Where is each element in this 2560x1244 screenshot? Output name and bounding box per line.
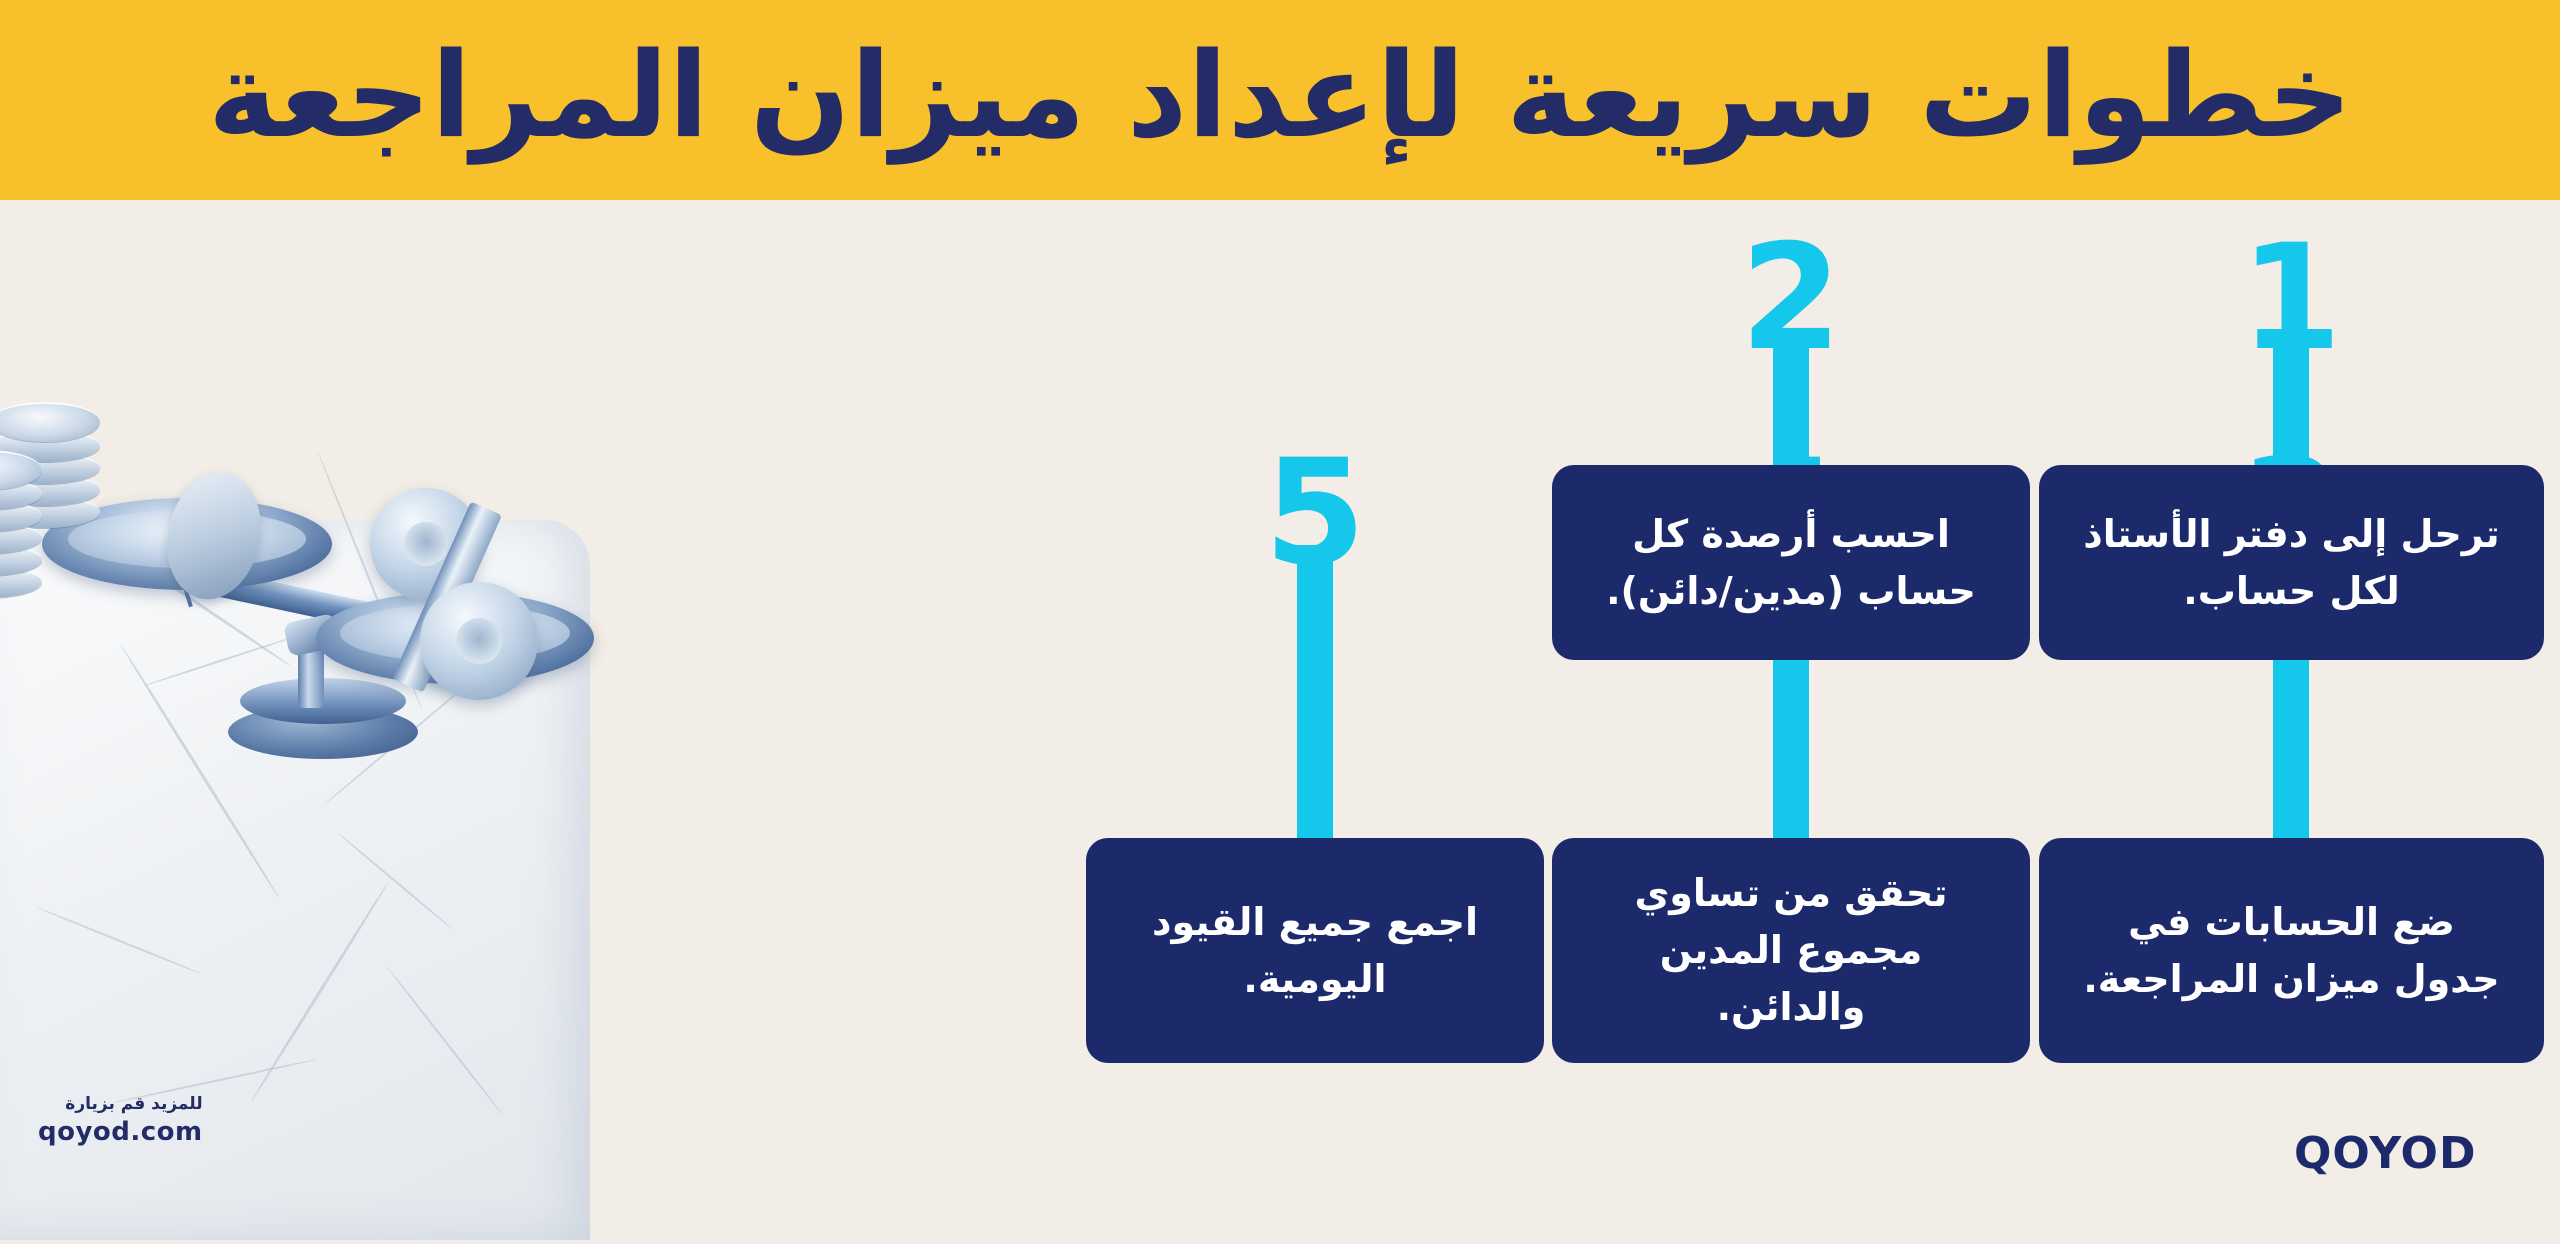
step-number-5: 5: [1255, 440, 1375, 586]
step-text-2: احسب أرصدة كل حساب (مدين/دائن).: [1586, 506, 1996, 620]
qoyod-logo: QOYOD: [2294, 1128, 2476, 1179]
steps-group: 1 2 3 4 5 ترحل إلى دفتر الأستاذ لكل حساب…: [0, 0, 2560, 1244]
step-text-3: ضع الحسابات في جدول ميزان المراجعة.: [2073, 894, 2510, 1008]
step-number-1: 1: [2231, 225, 2351, 371]
step-card-4[interactable]: تحقق من تساوي مجموع المدين والدائن.: [1552, 838, 2030, 1063]
step-card-1[interactable]: ترحل إلى دفتر الأستاذ لكل حساب.: [2039, 465, 2544, 660]
step-card-2[interactable]: احسب أرصدة كل حساب (مدين/دائن).: [1552, 465, 2030, 660]
step-card-3[interactable]: ضع الحسابات في جدول ميزان المراجعة.: [2039, 838, 2544, 1063]
step-card-5[interactable]: اجمع جميع القيود اليومية.: [1086, 838, 1544, 1063]
step-text-4: تحقق من تساوي مجموع المدين والدائن.: [1586, 865, 1996, 1036]
step-text-1: ترحل إلى دفتر الأستاذ لكل حساب.: [2073, 506, 2510, 620]
infographic-canvas: خطوات سريعة لإعداد ميزان المراجعة: [0, 0, 2560, 1244]
step-text-5: اجمع جميع القيود اليومية.: [1120, 894, 1510, 1008]
step-number-2: 2: [1731, 225, 1851, 371]
